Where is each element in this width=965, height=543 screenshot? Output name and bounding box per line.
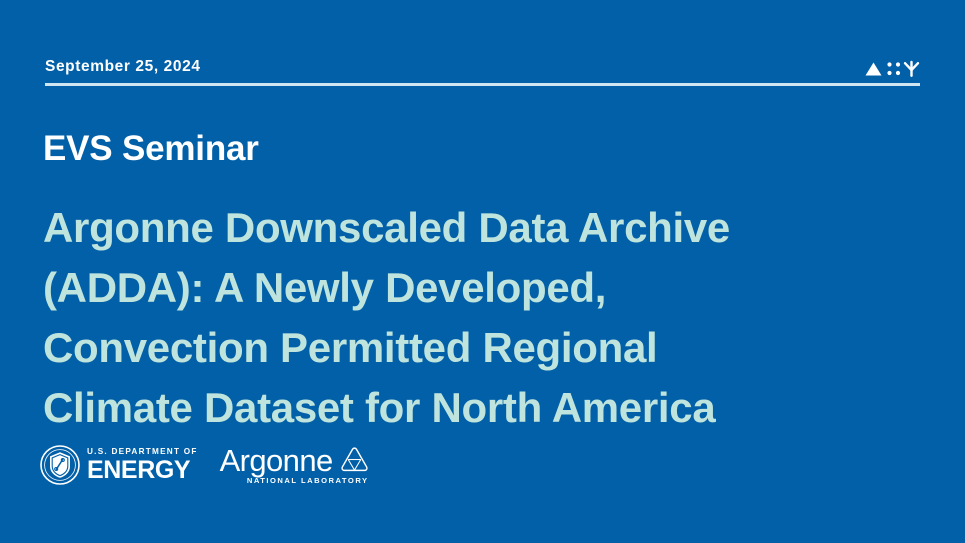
title-line: (ADDA): A Newly Developed,	[43, 258, 923, 318]
title-line: Convection Permitted Regional	[43, 318, 923, 378]
argonne-logo: Argonne NATIONAL LABORATORY	[220, 442, 371, 488]
presentation-slide: September 25, 2024 EVS Seminar Argonne D…	[0, 0, 965, 543]
header-divider	[45, 83, 920, 86]
title-line: Argonne Downscaled Data Archive	[43, 198, 923, 258]
doe-agency-line: ENERGY	[87, 457, 198, 483]
argonne-wordmark-row: Argonne	[220, 445, 371, 477]
slide-title: Argonne Downscaled Data Archive (ADDA): …	[43, 198, 923, 438]
doe-seal-icon	[40, 445, 80, 485]
argonne-tagline: NATIONAL LABORATORY	[247, 476, 369, 486]
title-line: Climate Dataset for North America	[43, 378, 923, 438]
argonne-triangle-dots-mark	[864, 59, 920, 79]
argonne-lockup: Argonne NATIONAL LABORATORY	[220, 445, 371, 486]
slide-eyebrow: EVS Seminar	[43, 129, 259, 169]
slide-header: September 25, 2024	[45, 58, 920, 92]
slide-date: September 25, 2024	[45, 58, 201, 76]
argonne-wordmark: Argonne	[220, 445, 333, 477]
logo-row: U.S. DEPARTMENT OF ENERGY Argonne	[40, 442, 371, 488]
doe-logo: U.S. DEPARTMENT OF ENERGY	[40, 443, 198, 487]
argonne-triangle-icon	[338, 445, 371, 475]
doe-wordmark: U.S. DEPARTMENT OF ENERGY	[87, 447, 198, 483]
